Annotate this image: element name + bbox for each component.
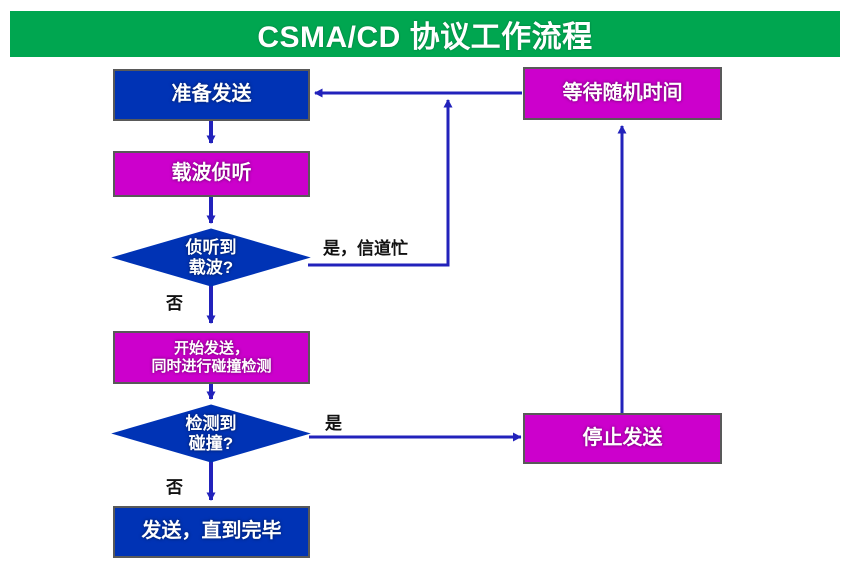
node-prepare-send[interactable]: 准备发送 bbox=[113, 69, 310, 121]
node-send-until-done-label: 发送，直到完毕 bbox=[142, 520, 282, 544]
diamond-shape bbox=[113, 405, 309, 462]
page-title: CSMA/CD 协议工作流程 bbox=[257, 12, 592, 56]
node-stop-send-label: 停止发送 bbox=[583, 427, 663, 451]
edge-label-no-collision: 否 bbox=[166, 473, 183, 498]
edge-label-busy-channel: 是，信道忙 bbox=[323, 234, 408, 259]
node-start-send[interactable]: 开始发送， 同时进行碰撞检测 bbox=[113, 331, 310, 384]
flowchart-canvas: CSMA/CD 协议工作流程 bbox=[0, 0, 849, 568]
node-collision-detected[interactable]: 检测到 碰撞? bbox=[113, 405, 309, 462]
node-carrier-detected[interactable]: 侦听到 载波? bbox=[113, 229, 309, 286]
edge-label-no-carrier: 否 bbox=[166, 289, 183, 314]
node-wait-random-time[interactable]: 等待随机时间 bbox=[523, 67, 722, 120]
node-carrier-sense-label: 载波侦听 bbox=[172, 162, 252, 186]
edge-label-yes-collision: 是 bbox=[325, 409, 342, 434]
node-carrier-sense[interactable]: 载波侦听 bbox=[113, 151, 310, 197]
node-start-send-label: 开始发送， 同时进行碰撞检测 bbox=[151, 340, 271, 375]
node-send-until-done[interactable]: 发送，直到完毕 bbox=[113, 506, 310, 558]
node-wait-random-time-label: 等待随机时间 bbox=[563, 82, 683, 106]
node-stop-send[interactable]: 停止发送 bbox=[523, 413, 722, 464]
node-prepare-send-label: 准备发送 bbox=[172, 83, 252, 107]
diamond-shape bbox=[113, 229, 309, 286]
page-title-banner: CSMA/CD 协议工作流程 bbox=[10, 11, 840, 57]
